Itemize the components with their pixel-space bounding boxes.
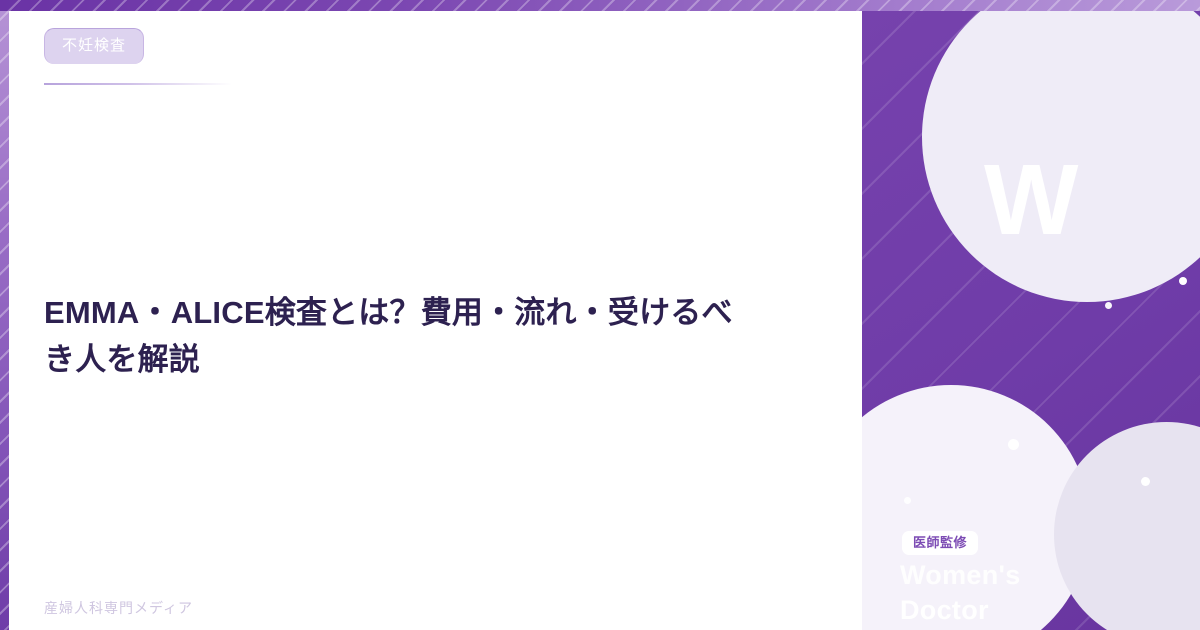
- page-title: EMMA・ALICE検査とは？費用・流れ・受けるべき人を解説: [44, 290, 734, 383]
- decorative-dot: [1141, 477, 1150, 486]
- brand-logo: Women's Doctor: [900, 558, 1021, 627]
- badge-underline-rule: [44, 83, 232, 85]
- brand-monogram: W: [984, 150, 1076, 250]
- article-ogp-card: 不妊検査 EMMA・ALICE検査とは？費用・流れ・受けるべき人を解説 産婦人科…: [0, 0, 1200, 630]
- left-accent-strip: [0, 0, 9, 630]
- content-area: 不妊検査 EMMA・ALICE検査とは？費用・流れ・受けるべき人を解説 産婦人科…: [0, 11, 862, 630]
- supervision-badge: 医師監修: [902, 531, 978, 555]
- decorative-dot: [1105, 302, 1112, 309]
- brand-logo-line-2: Doctor: [900, 593, 1021, 628]
- category-badge[interactable]: 不妊検査: [44, 28, 144, 64]
- brand-logo-line-1: Women's: [900, 558, 1021, 593]
- brand-panel: W 医師監修 Women's Doctor: [862, 0, 1200, 630]
- decorative-circle-bottom-right: [1054, 422, 1200, 630]
- top-accent-strip: [0, 0, 1200, 11]
- decorative-dot: [1008, 439, 1019, 450]
- decorative-dot: [904, 497, 911, 504]
- decorative-dot: [1179, 277, 1187, 285]
- site-tagline: 産婦人科専門メディア: [44, 601, 193, 615]
